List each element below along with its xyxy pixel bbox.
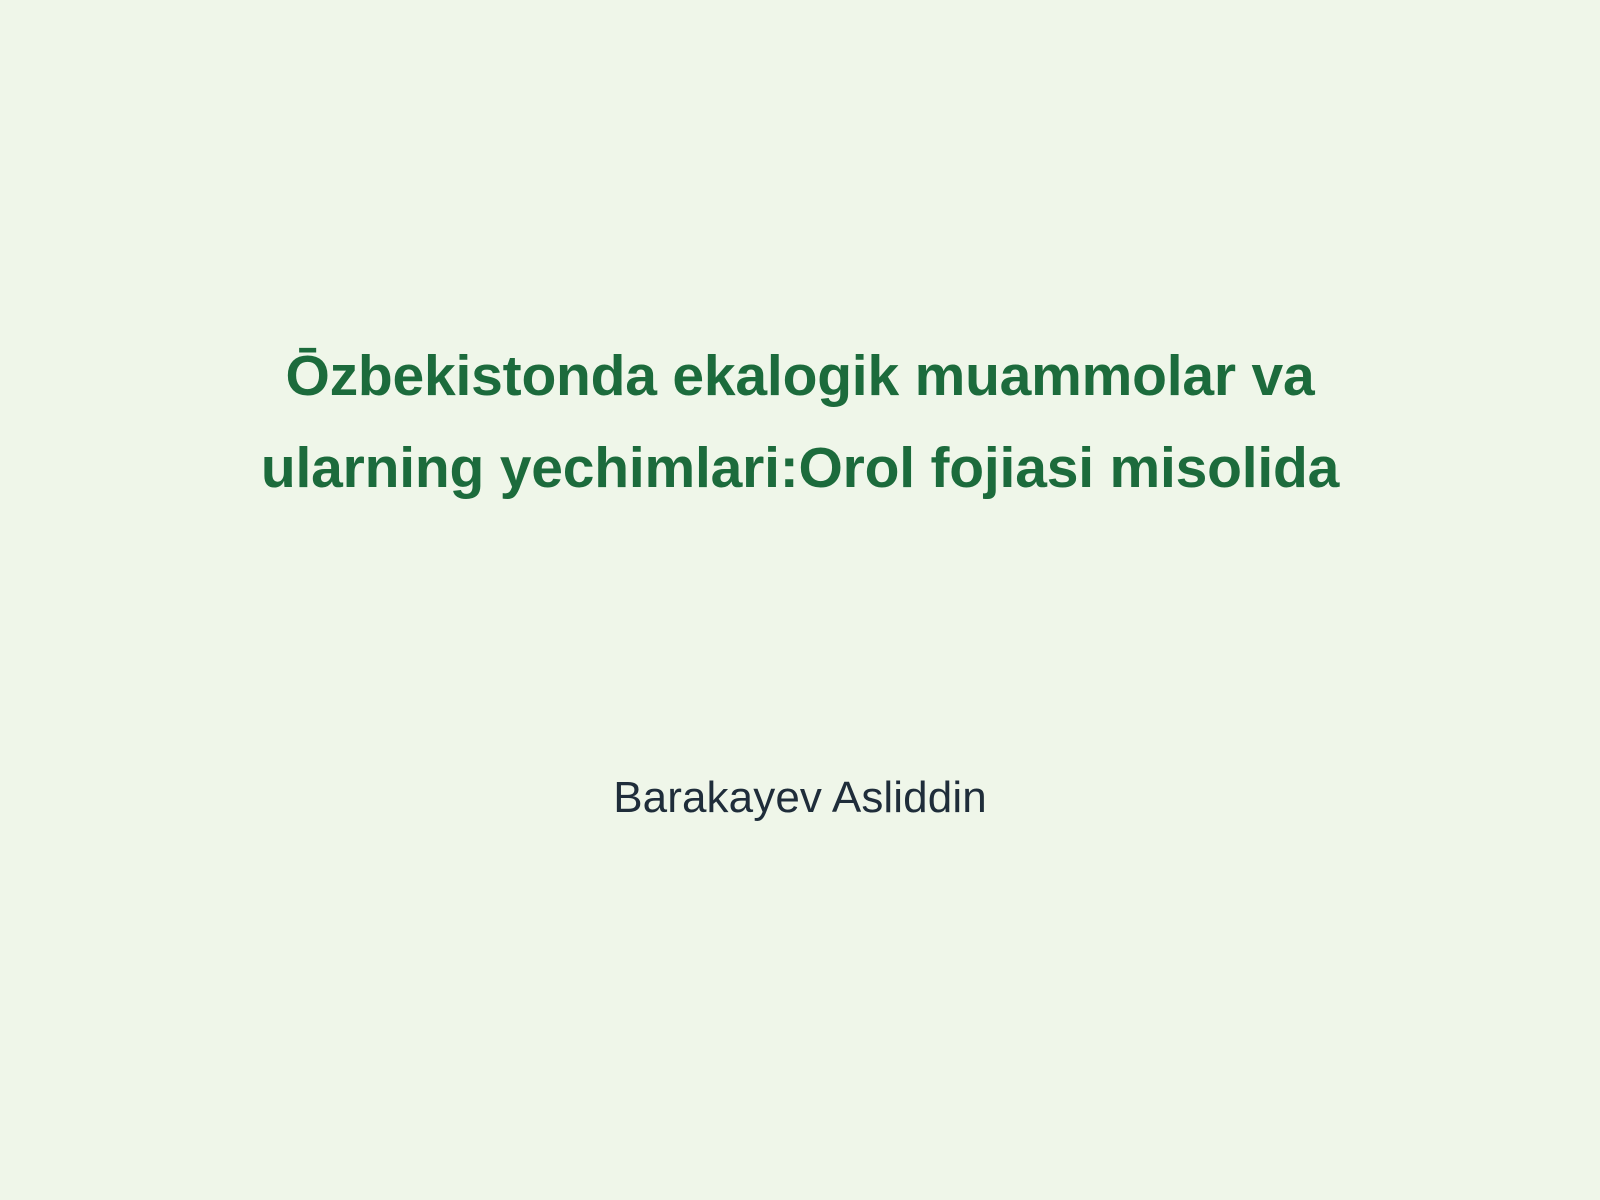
- slide-title: Ōzbekistonda ekalogik muammolar va ularn…: [0, 330, 1600, 514]
- slide-author: Barakayev Asliddin: [0, 770, 1600, 826]
- author-name: Barakayev Asliddin: [120, 770, 1480, 826]
- title-line-2: ularning yechimlari:Orol fojiasi misolid…: [120, 422, 1480, 514]
- title-line-1: Ōzbekistonda ekalogik muammolar va: [120, 330, 1480, 422]
- title-slide: Ōzbekistonda ekalogik muammolar va ularn…: [0, 0, 1600, 1200]
